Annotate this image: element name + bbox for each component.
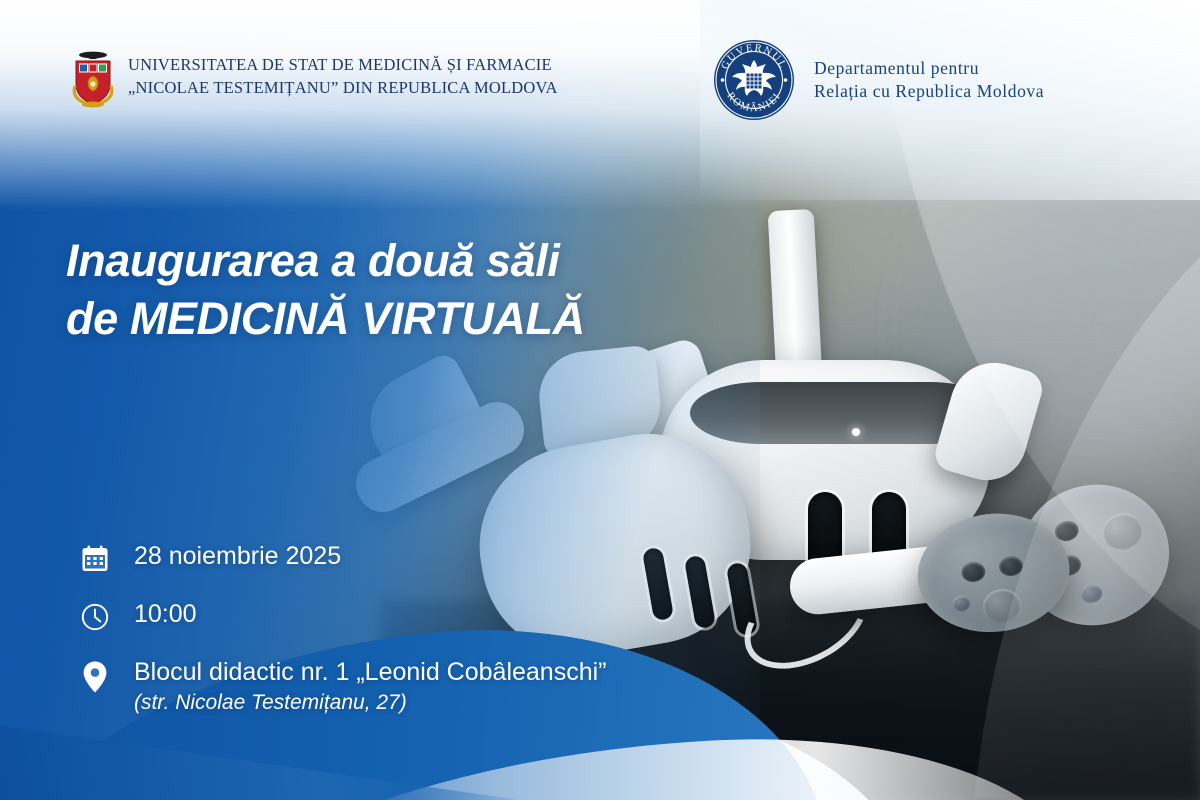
- usmf-crest-logo: [70, 46, 116, 108]
- event-venue: Blocul didactic nr. 1 „Leonid Cobâleansc…: [134, 658, 607, 688]
- event-date: 28 noiembrie 2025: [134, 542, 341, 572]
- event-poster: UNIVERSITATEA DE STAT DE MEDICINĂ ȘI FAR…: [0, 0, 1200, 800]
- headset-top-strap: [768, 209, 823, 381]
- poster-header: UNIVERSITATEA DE STAT DE MEDICINĂ ȘI FAR…: [0, 0, 1200, 140]
- detail-row-location: Blocul didactic nr. 1 „Leonid Cobâleansc…: [78, 658, 718, 716]
- government-dept-line2: Relația cu Republica Moldova: [814, 80, 1044, 103]
- government-logo-block: GUVERNUL ROMÂNIEI Dep: [712, 38, 1044, 122]
- university-name-line1: UNIVERSITATEA DE STAT DE MEDICINĂ ȘI FAR…: [128, 54, 558, 77]
- guvernul-romaniei-seal: GUVERNUL ROMÂNIEI: [712, 38, 796, 122]
- detail-row-date: 28 noiembrie 2025: [78, 542, 718, 574]
- university-logo-block: UNIVERSITATEA DE STAT DE MEDICINĂ ȘI FAR…: [70, 46, 558, 108]
- university-name-line2: „NICOLAE TESTEMIȚANU” DIN REPUBLICA MOLD…: [128, 77, 558, 100]
- title-line-2: de MEDICINĂ VIRTUALĂ: [66, 290, 706, 348]
- event-details: 28 noiembrie 2025 10:00: [78, 542, 718, 716]
- detail-row-time: 10:00: [78, 600, 718, 632]
- event-address: (str. Nicolae Testemițanu, 27): [134, 690, 607, 716]
- government-dept-line1: Departamentul pentru: [814, 57, 1044, 80]
- headset-indicator-led: [852, 428, 860, 436]
- location-pin-icon: [78, 658, 112, 694]
- event-time: 10:00: [134, 600, 197, 630]
- poster-title: Inaugurarea a două săli de MEDICINĂ VIRT…: [66, 232, 706, 347]
- title-line-1: Inaugurarea a două săli: [66, 232, 706, 290]
- clock-icon: [78, 600, 112, 632]
- calendar-icon: [78, 542, 112, 574]
